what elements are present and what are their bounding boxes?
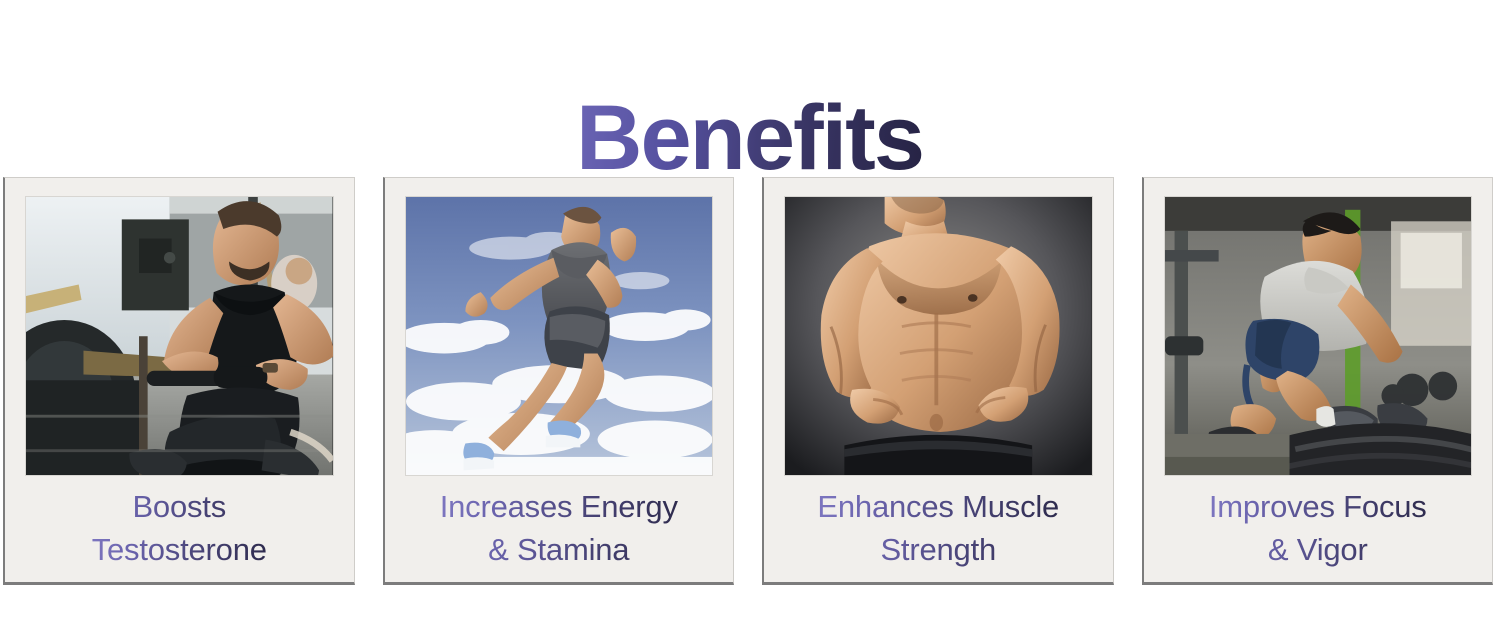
man-pushing-tire-gym-photo bbox=[1164, 196, 1473, 476]
runner-sky-illustration bbox=[406, 197, 713, 475]
man-running-midair-sky-photo bbox=[405, 196, 714, 476]
gym-rowing-illustration bbox=[26, 197, 333, 475]
muscular-torso-hands-on-hips-photo bbox=[784, 196, 1093, 476]
benefit-caption: Increases Energy & Stamina bbox=[440, 486, 678, 572]
benefit-card-improves-focus-vigor[interactable]: Improves Focus & Vigor bbox=[1142, 177, 1494, 585]
page-title: Benefits bbox=[576, 90, 923, 187]
benefit-caption: Enhances Muscle Strength bbox=[817, 486, 1059, 572]
muscular-torso-illustration bbox=[785, 197, 1092, 475]
benefit-card-boosts-testosterone[interactable]: Boosts Testosterone bbox=[3, 177, 355, 585]
benefits-card-row: Boosts Testosterone bbox=[3, 177, 1493, 585]
benefit-caption: Improves Focus & Vigor bbox=[1209, 486, 1427, 572]
benefits-section: Benefits bbox=[0, 0, 1499, 643]
benefit-card-increases-energy-stamina[interactable]: Increases Energy & Stamina bbox=[383, 177, 735, 585]
man-rowing-machine-gym-photo bbox=[25, 196, 334, 476]
benefit-card-enhances-muscle-strength[interactable]: Enhances Muscle Strength bbox=[762, 177, 1114, 585]
benefit-caption: Boosts Testosterone bbox=[92, 486, 267, 572]
tire-push-illustration bbox=[1165, 197, 1472, 475]
